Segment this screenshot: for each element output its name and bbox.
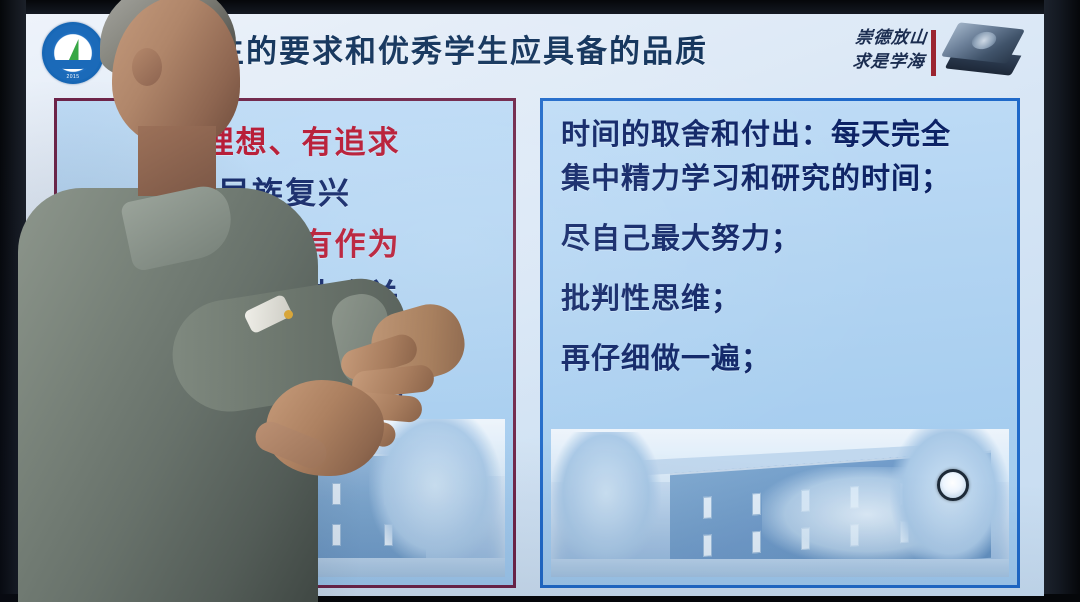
right-line-5: 再仔细做一遍；	[561, 337, 1005, 381]
left-panel-text-block: 有理想、有追求 民族复兴 有担当、有作为 科研、科技攻关 有素质、有修养 修德、…	[57, 117, 513, 423]
calligraphy-motto: 崇德放山 求是学海	[851, 26, 928, 74]
laser-pointer-dot	[937, 469, 969, 501]
photo-window	[229, 524, 238, 546]
left-line-5: 有素质、有修养	[57, 321, 513, 372]
photo-window	[280, 524, 289, 546]
right-line-1: 时间的取舍和付出：每天完全	[561, 113, 1005, 157]
left-line-2: 民族复兴	[57, 168, 513, 219]
university-emblem-icon: 2015	[42, 22, 104, 84]
screen-bezel-right	[1044, 0, 1080, 602]
photo-window	[332, 524, 341, 546]
photo-window	[280, 483, 289, 505]
right-line-3: 尽自己最大努力；	[561, 217, 1005, 261]
projected-slide: 2015 对大学生的要求和优秀学生应具备的品质 崇德放山 求是学海 有理想、有追…	[26, 14, 1044, 596]
calligraphy-line-1: 崇德放山	[854, 26, 929, 50]
photo-tree-left	[69, 422, 183, 558]
left-line-4: 科研、科技攻关	[57, 270, 513, 321]
photo-window	[752, 492, 761, 515]
calligraphy-red-bar	[931, 30, 936, 76]
screen-bezel-top	[0, 0, 1080, 14]
slide-header: 2015 对大学生的要求和优秀学生应具备的品质 崇德放山 求是学海	[26, 14, 1044, 92]
screen-bezel-left	[0, 0, 26, 602]
slide-title: 对大学生的要求和优秀学生应具备的品质	[114, 24, 708, 80]
photo-window	[752, 530, 761, 553]
photo-window	[332, 483, 341, 505]
right-line-2: 集中精力学习和研究的时间；	[561, 157, 1005, 201]
left-content-panel: 有理想、有追求 民族复兴 有担当、有作为 科研、科技攻关 有素质、有修养 修德、…	[54, 98, 516, 588]
right-panel-text-block: 时间的取舍和付出：每天完全 集中精力学习和研究的时间； 尽自己最大努力； 批判性…	[561, 113, 1005, 381]
photo-tree-right	[369, 419, 501, 568]
photo-ground	[551, 559, 1009, 577]
photo-ground	[65, 558, 505, 577]
left-line-6: 修德、明辨、笃实	[57, 372, 513, 423]
right-line-4: 批判性思维；	[561, 277, 1005, 321]
emblem-wave-shape	[52, 60, 94, 69]
right-campus-photo	[551, 429, 1009, 577]
left-campus-photo	[65, 419, 505, 577]
emblem-sail-shape	[69, 39, 79, 61]
calligraphy-line-2: 求是学海	[851, 50, 926, 74]
stone-seal-icon	[942, 22, 1026, 84]
left-line-1: 有理想、有追求	[57, 117, 513, 168]
right-content-panel: 时间的取舍和付出：每天完全 集中精力学习和研究的时间； 尽自己最大努力； 批判性…	[540, 98, 1020, 588]
photo-window	[229, 483, 238, 505]
left-line-3: 有担当、有作为	[57, 219, 513, 270]
photo-window	[703, 495, 712, 518]
lecture-room-scene: 2015 对大学生的要求和优秀学生应具备的品质 崇德放山 求是学海 有理想、有追…	[0, 0, 1080, 602]
photo-tree-left	[551, 432, 661, 568]
emblem-year-text: 2015	[42, 74, 104, 80]
photo-window	[703, 534, 712, 557]
